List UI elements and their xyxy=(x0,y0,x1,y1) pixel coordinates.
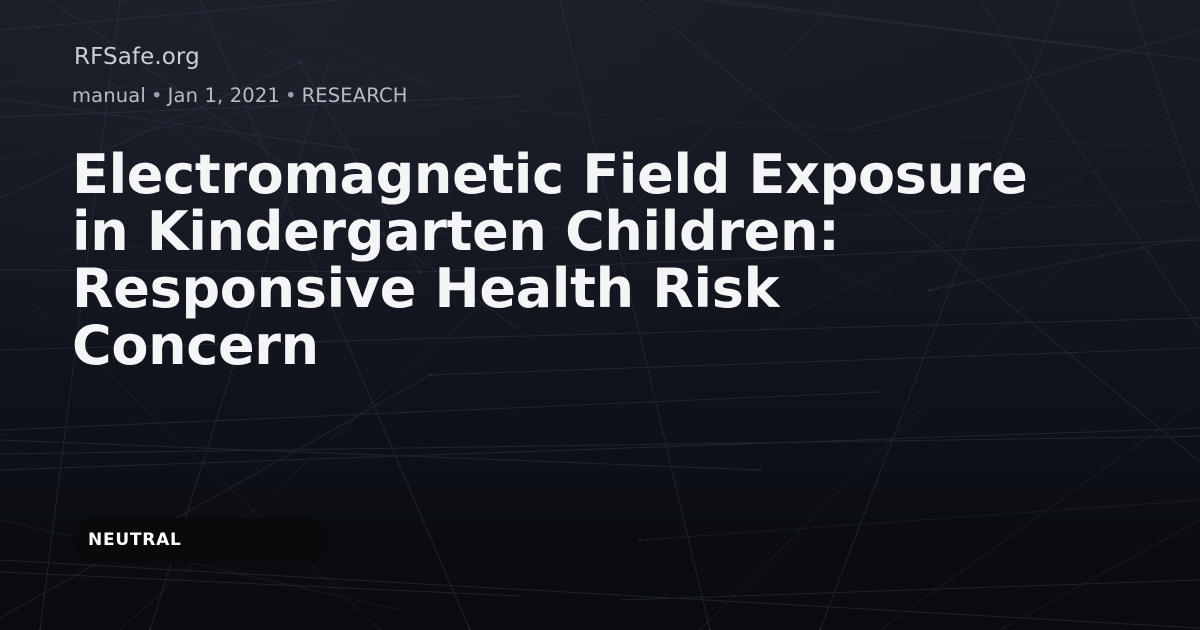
status-badge-label: NEUTRAL xyxy=(88,532,182,549)
title-line: in Kindergarten Children: xyxy=(72,203,1142,260)
page-title: Electromagnetic Field Exposure in Kinder… xyxy=(72,146,1142,374)
title-line: Concern xyxy=(72,317,1142,374)
card-content: RFSafe.org manual•Jan 1, 2021•RESEARCH E… xyxy=(0,0,1200,630)
article-meta: manual•Jan 1, 2021•RESEARCH xyxy=(72,84,408,108)
meta-separator-2: • xyxy=(280,84,302,107)
meta-date: Jan 1, 2021 xyxy=(168,84,280,107)
meta-category: RESEARCH xyxy=(302,84,408,107)
status-badge: NEUTRAL xyxy=(72,518,330,563)
social-share-card: RFSafe.org manual•Jan 1, 2021•RESEARCH E… xyxy=(0,0,1200,630)
title-line: Electromagnetic Field Exposure xyxy=(72,146,1142,203)
meta-separator-1: • xyxy=(146,84,168,107)
meta-source: manual xyxy=(72,84,146,107)
site-name: RFSafe.org xyxy=(74,44,200,71)
title-line: Responsive Health Risk xyxy=(72,260,1142,317)
